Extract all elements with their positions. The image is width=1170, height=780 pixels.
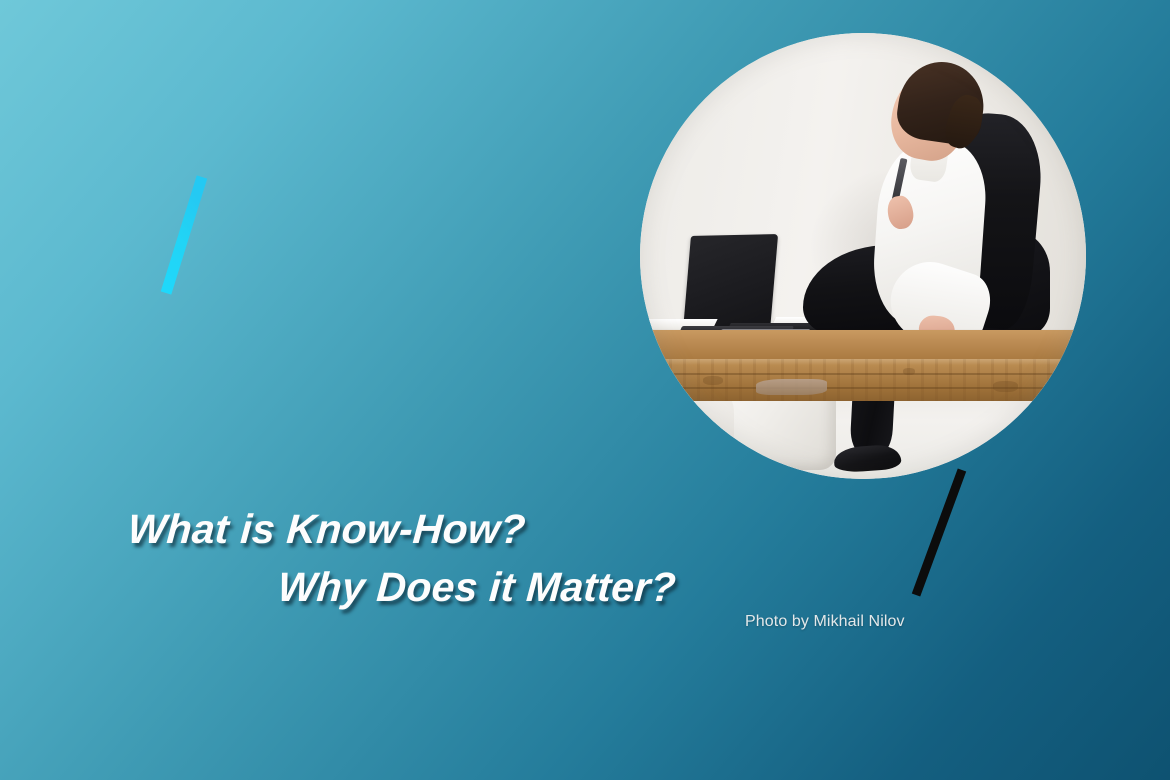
photo-laptop-screen — [683, 234, 778, 332]
photo-circle — [640, 33, 1086, 479]
photo-desk-front — [640, 359, 1086, 401]
headline-line-2: Why Does it Matter? — [276, 558, 750, 616]
photo-desk-top — [640, 330, 1086, 361]
headline-line-1: What is Know-How? — [126, 500, 750, 558]
photo-content — [640, 33, 1086, 479]
page-title: What is Know-How? Why Does it Matter? — [128, 500, 748, 616]
photo-desk-detail — [756, 379, 827, 395]
poster-canvas: What is Know-How? Why Does it Matter? Ph… — [0, 0, 1170, 780]
credit-line-diagonal-icon — [916, 470, 962, 595]
photo-credit: Photo by Mikhail Nilov — [745, 613, 905, 631]
photo-chair-secondary — [644, 394, 733, 474]
